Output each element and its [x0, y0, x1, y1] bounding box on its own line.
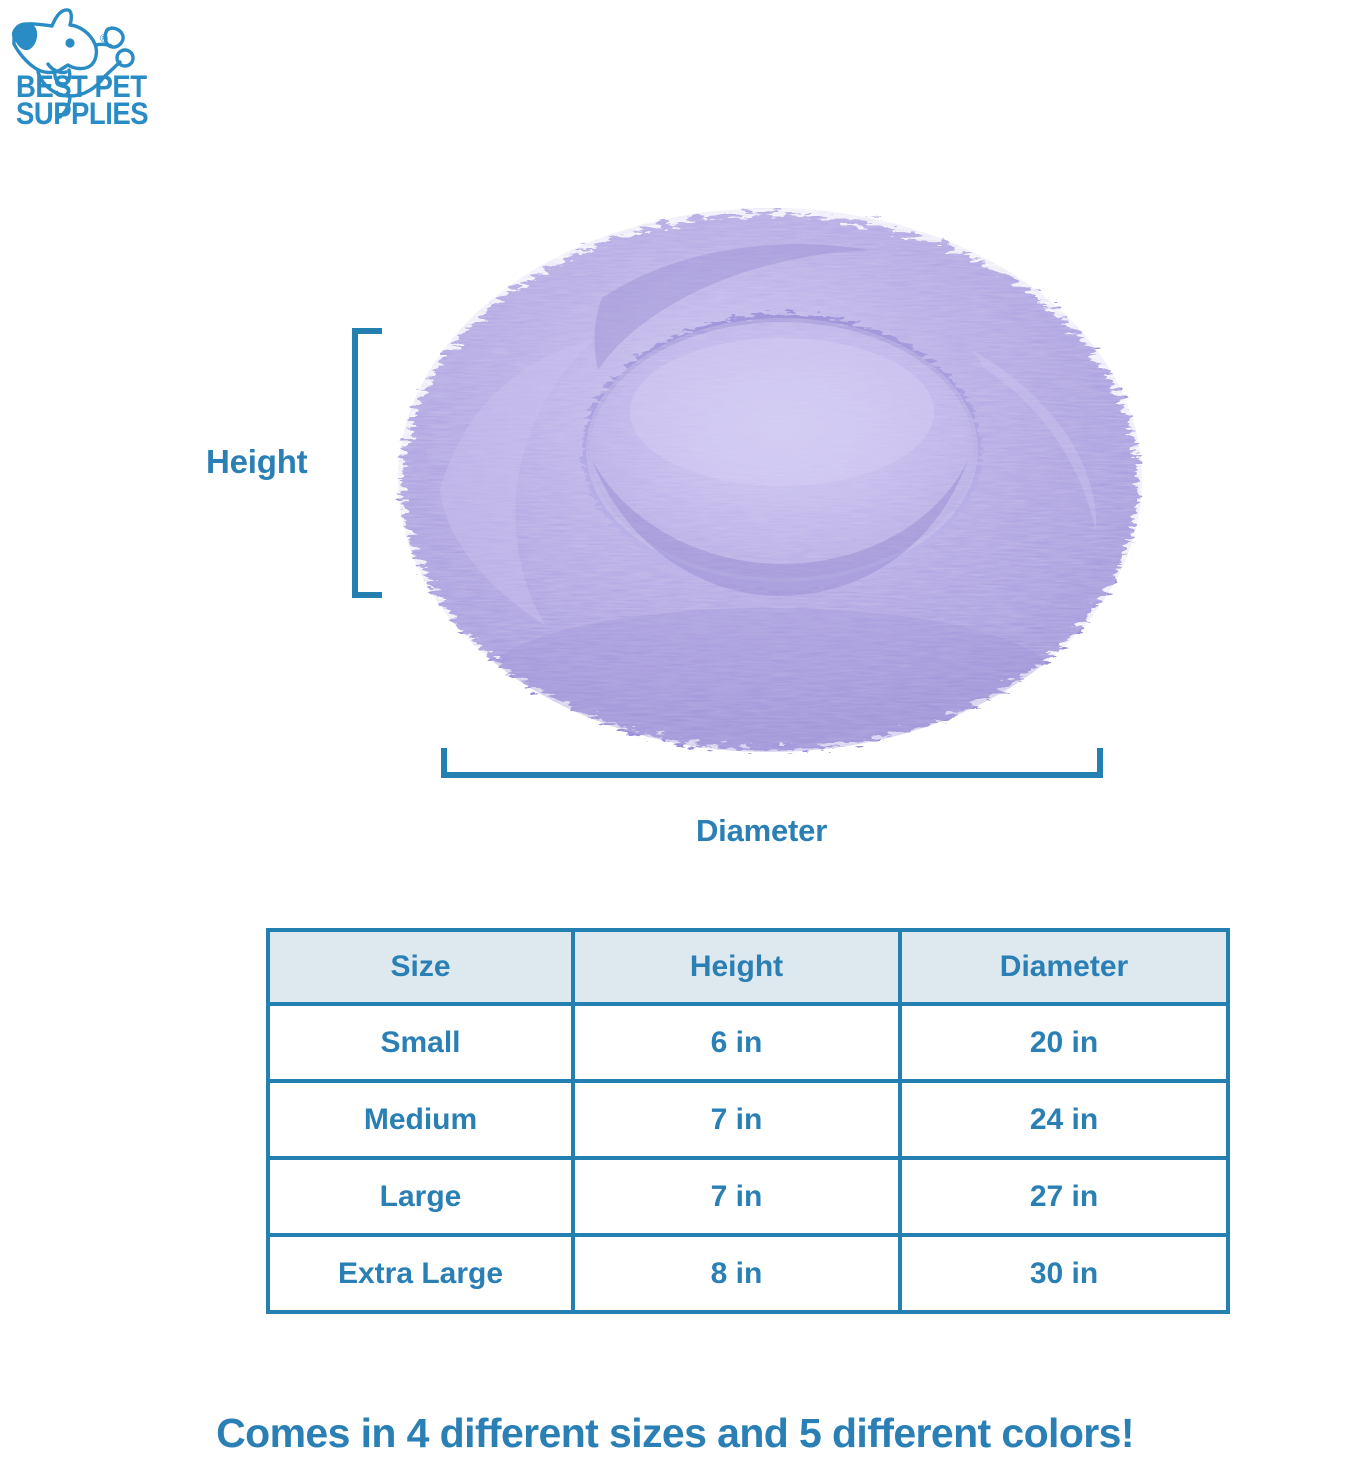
- table-row: Extra Large 8 in 30 in: [268, 1235, 1228, 1312]
- dog-eye-icon: [65, 38, 74, 47]
- cell-size: Large: [268, 1158, 573, 1235]
- cell-diameter: 24 in: [900, 1081, 1228, 1158]
- cell-size: Small: [268, 1004, 573, 1081]
- registered-mark: ®: [100, 33, 108, 45]
- product-image-dog-bed: [370, 160, 1170, 760]
- dog-icon: ® BEST PET SUPPLIES: [8, 4, 178, 132]
- table-row: Large 7 in 27 in: [268, 1158, 1228, 1235]
- brand-logo: ® BEST PET SUPPLIES: [8, 4, 178, 132]
- ball-icon: [117, 50, 133, 66]
- cell-diameter: 20 in: [900, 1004, 1228, 1081]
- column-header-height: Height: [573, 930, 900, 1004]
- table-row: Medium 7 in 24 in: [268, 1081, 1228, 1158]
- diameter-dimension-label: Diameter: [696, 813, 827, 849]
- table-row: Small 6 in 20 in: [268, 1004, 1228, 1081]
- height-dimension-label: Height: [206, 443, 307, 481]
- diameter-dimension-bracket: [441, 748, 1103, 778]
- cell-size: Extra Large: [268, 1235, 573, 1312]
- height-dimension-bracket: [352, 328, 382, 598]
- cell-diameter: 30 in: [900, 1235, 1228, 1312]
- column-header-diameter: Diameter: [900, 930, 1228, 1004]
- cell-diameter: 27 in: [900, 1158, 1228, 1235]
- cell-height: 7 in: [573, 1158, 900, 1235]
- cell-height: 6 in: [573, 1004, 900, 1081]
- dog-nose-icon: [14, 24, 38, 50]
- size-chart-table: Size Height Diameter Small 6 in 20 in Me…: [266, 928, 1230, 1314]
- cell-height: 7 in: [573, 1081, 900, 1158]
- bed-rim-shade-bottom: [484, 608, 1056, 752]
- table-header-row: Size Height Diameter: [268, 930, 1228, 1004]
- column-header-size: Size: [268, 930, 573, 1004]
- footer-tagline: Comes in 4 different sizes and 5 differe…: [0, 1410, 1350, 1457]
- brand-wordmark-line-2: SUPPLIES: [16, 96, 148, 131]
- cell-size: Medium: [268, 1081, 573, 1158]
- cell-height: 8 in: [573, 1235, 900, 1312]
